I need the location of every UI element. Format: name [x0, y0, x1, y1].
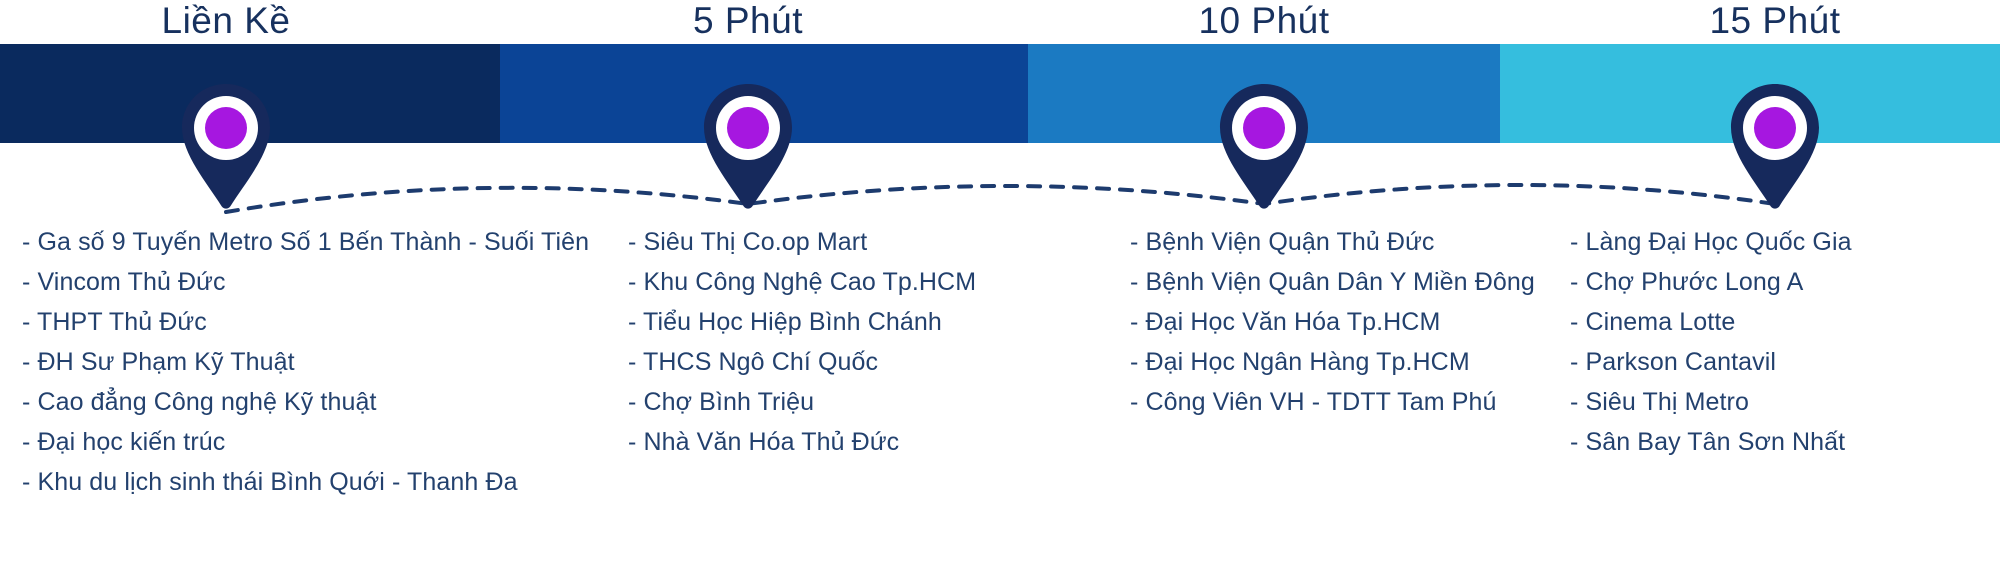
- list-item: - Chợ Bình Triệu: [628, 382, 976, 422]
- list-item: - Đại học kiến trúc: [22, 422, 589, 462]
- list-item: - Siêu Thị Co.op Mart: [628, 222, 976, 262]
- list-item: - THCS Ngô Chí Quốc: [628, 342, 976, 382]
- amenity-list-column-0: - Ga số 9 Tuyến Metro Số 1 Bến Thành - S…: [22, 222, 589, 502]
- timeline-band: [0, 44, 2000, 143]
- infographic-root: Liền Kề 5 Phút 10 Phút 15 Phút: [0, 0, 2000, 562]
- list-item: - Đại Học Ngân Hàng Tp.HCM: [1130, 342, 1535, 382]
- map-pin-marker-3[interactable]: [1729, 82, 1821, 210]
- column-title-1: 5 Phút: [693, 0, 803, 44]
- amenity-lists: - Ga số 9 Tuyến Metro Số 1 Bến Thành - S…: [0, 222, 2000, 562]
- list-items-2: - Bệnh Viện Quận Thủ Đức - Bệnh Viện Quâ…: [1130, 222, 1535, 422]
- list-item: - Làng Đại Học Quốc Gia: [1570, 222, 1852, 262]
- column-title-0: Liền Kề: [162, 0, 291, 44]
- list-item: - Chợ Phước Long A: [1570, 262, 1852, 302]
- list-item: - Cinema Lotte: [1570, 302, 1852, 342]
- list-item: - ĐH Sư Phạm Kỹ Thuật: [22, 342, 589, 382]
- list-item: - Bệnh Viện Quân Dân Y Miền Đông: [1130, 262, 1535, 302]
- list-item: - Parkson Cantavil: [1570, 342, 1852, 382]
- map-pin-marker-1[interactable]: [702, 82, 794, 210]
- map-pin-marker-0[interactable]: [180, 82, 272, 210]
- list-items-1: - Siêu Thị Co.op Mart - Khu Công Nghệ Ca…: [628, 222, 976, 462]
- list-item: - Sân Bay Tân Sơn Nhất: [1570, 422, 1852, 462]
- amenity-list-column-3: - Làng Đại Học Quốc Gia - Chợ Phước Long…: [1570, 222, 1852, 462]
- list-item: - Bệnh Viện Quận Thủ Đức: [1130, 222, 1535, 262]
- column-titles-row: Liền Kề 5 Phút 10 Phút 15 Phút: [0, 0, 2000, 46]
- list-item: - Ga số 9 Tuyến Metro Số 1 Bến Thành - S…: [22, 222, 589, 262]
- list-item: - Đại Học Văn Hóa Tp.HCM: [1130, 302, 1535, 342]
- list-item: - Tiểu Học Hiệp Bình Chánh: [628, 302, 976, 342]
- list-item: - Cao đẳng Công nghệ Kỹ thuật: [22, 382, 589, 422]
- list-item: - Khu du lịch sinh thái Bình Quới - Than…: [22, 462, 589, 502]
- list-item: - Khu Công Nghệ Cao Tp.HCM: [628, 262, 976, 302]
- amenity-list-column-2: - Bệnh Viện Quận Thủ Đức - Bệnh Viện Quâ…: [1130, 222, 1535, 422]
- column-title-3: 15 Phút: [1709, 0, 1840, 44]
- list-item: - Siêu Thị Metro: [1570, 382, 1852, 422]
- list-items-0: - Ga số 9 Tuyến Metro Số 1 Bến Thành - S…: [22, 222, 589, 502]
- list-item: - Nhà Văn Hóa Thủ Đức: [628, 422, 976, 462]
- list-item: - THPT Thủ Đức: [22, 302, 589, 342]
- column-title-2: 10 Phút: [1198, 0, 1329, 44]
- list-item: - Công Viên VH - TDTT Tam Phú: [1130, 382, 1535, 422]
- list-item: - Vincom Thủ Đức: [22, 262, 589, 302]
- amenity-list-column-1: - Siêu Thị Co.op Mart - Khu Công Nghệ Ca…: [628, 222, 976, 462]
- map-pin-marker-2[interactable]: [1218, 82, 1310, 210]
- list-items-3: - Làng Đại Học Quốc Gia - Chợ Phước Long…: [1570, 222, 1852, 462]
